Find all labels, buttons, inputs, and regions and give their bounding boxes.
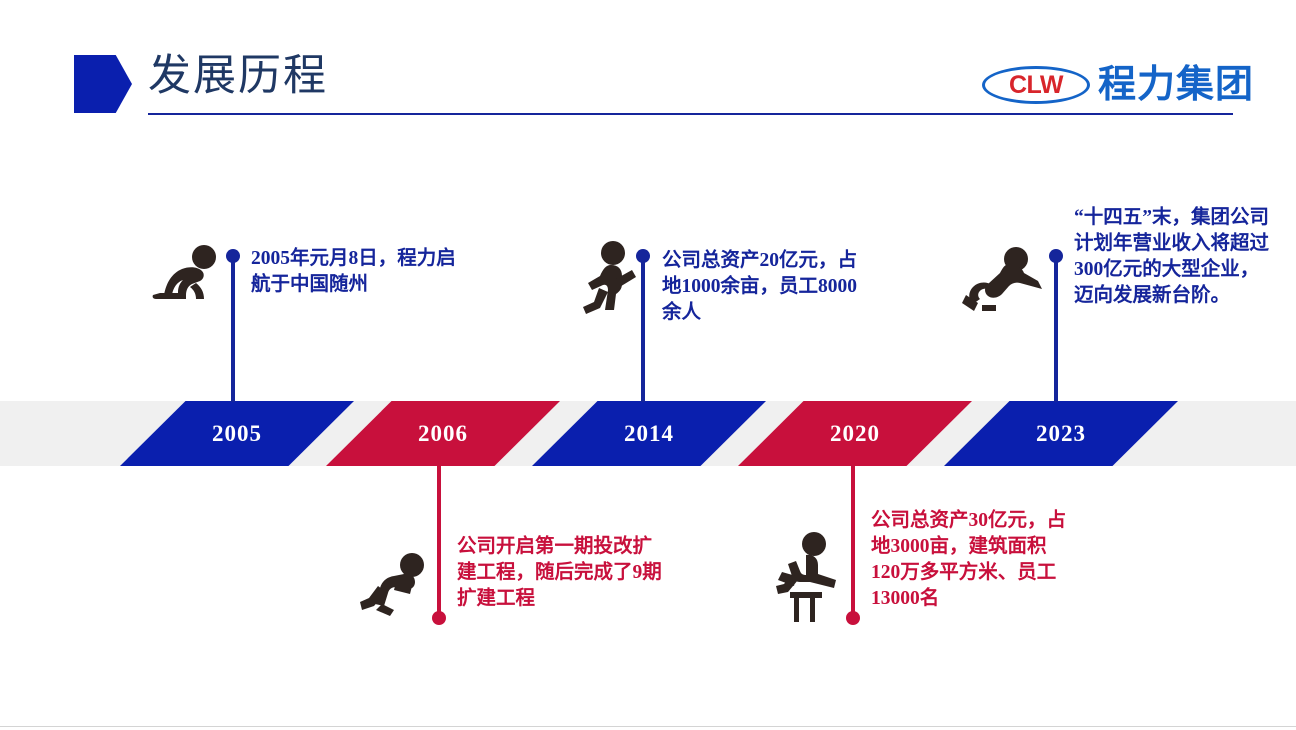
timeline-year-2023: 2023 — [1036, 421, 1086, 447]
slide-canvas: 发展历程 CLW 程力集团 2005 2006 2014 2020 2023 — [0, 0, 1296, 730]
hurdle-jumper-icon — [770, 532, 842, 624]
milestone-note-2023: “十四五”末，集团公司计划年营业收入将超过300亿元的大型企业，迈向发展新台阶。 — [1074, 205, 1274, 309]
milestone-note-2005: 2005年元月8日，程力启航于中国随州 — [251, 246, 456, 298]
connector-line-2006 — [437, 466, 441, 618]
timeline-band: 2005 2006 2014 2020 2023 — [0, 401, 1296, 466]
milestone-note-2006: 公司开启第一期投改扩建工程，随后完成了9期扩建工程 — [457, 534, 662, 612]
connector-line-2005 — [231, 256, 235, 402]
connector-dot-2023 — [1049, 249, 1063, 263]
milestone-note-2020: 公司总资产30亿元，占地3000亩，建筑面积120万多平方米、员工13000名 — [871, 508, 1071, 612]
running-figure-icon-2014 — [578, 240, 640, 318]
pentagon-arrow-icon — [74, 55, 132, 113]
page-title: 发展历程 — [148, 47, 328, 107]
milestone-note-2014: 公司总资产20亿元，占地1000余亩，员工8000余人 — [662, 248, 862, 326]
timeline-chevron-2014[interactable]: 2014 — [532, 401, 766, 466]
timeline-chevron-2023[interactable]: 2023 — [944, 401, 1178, 466]
running-figure-icon-2006 — [360, 548, 430, 616]
header-divider — [148, 113, 1233, 115]
logo-company-name: 程力集团 — [1098, 62, 1254, 108]
timeline-year-2014: 2014 — [624, 421, 674, 447]
logo-mark-text: CLW — [982, 66, 1090, 104]
brand-logo: CLW 程力集团 — [982, 62, 1230, 108]
connector-dot-2020 — [846, 611, 860, 625]
bottom-divider — [0, 726, 1296, 727]
crouching-sprinter-start-icon — [152, 243, 224, 305]
timeline-chevron-2020[interactable]: 2020 — [738, 401, 972, 466]
connector-line-2023 — [1054, 256, 1058, 402]
connector-dot-2005 — [226, 249, 240, 263]
timeline-year-2006: 2006 — [418, 421, 468, 447]
timeline-chevron-2006[interactable]: 2006 — [326, 401, 560, 466]
connector-line-2014 — [641, 256, 645, 402]
connector-line-2020 — [851, 466, 855, 618]
timeline-year-2020: 2020 — [830, 421, 880, 447]
connector-dot-2006 — [432, 611, 446, 625]
timeline-year-2005: 2005 — [212, 421, 262, 447]
high-jumper-icon — [962, 245, 1044, 317]
timeline-chevron-2005[interactable]: 2005 — [120, 401, 354, 466]
